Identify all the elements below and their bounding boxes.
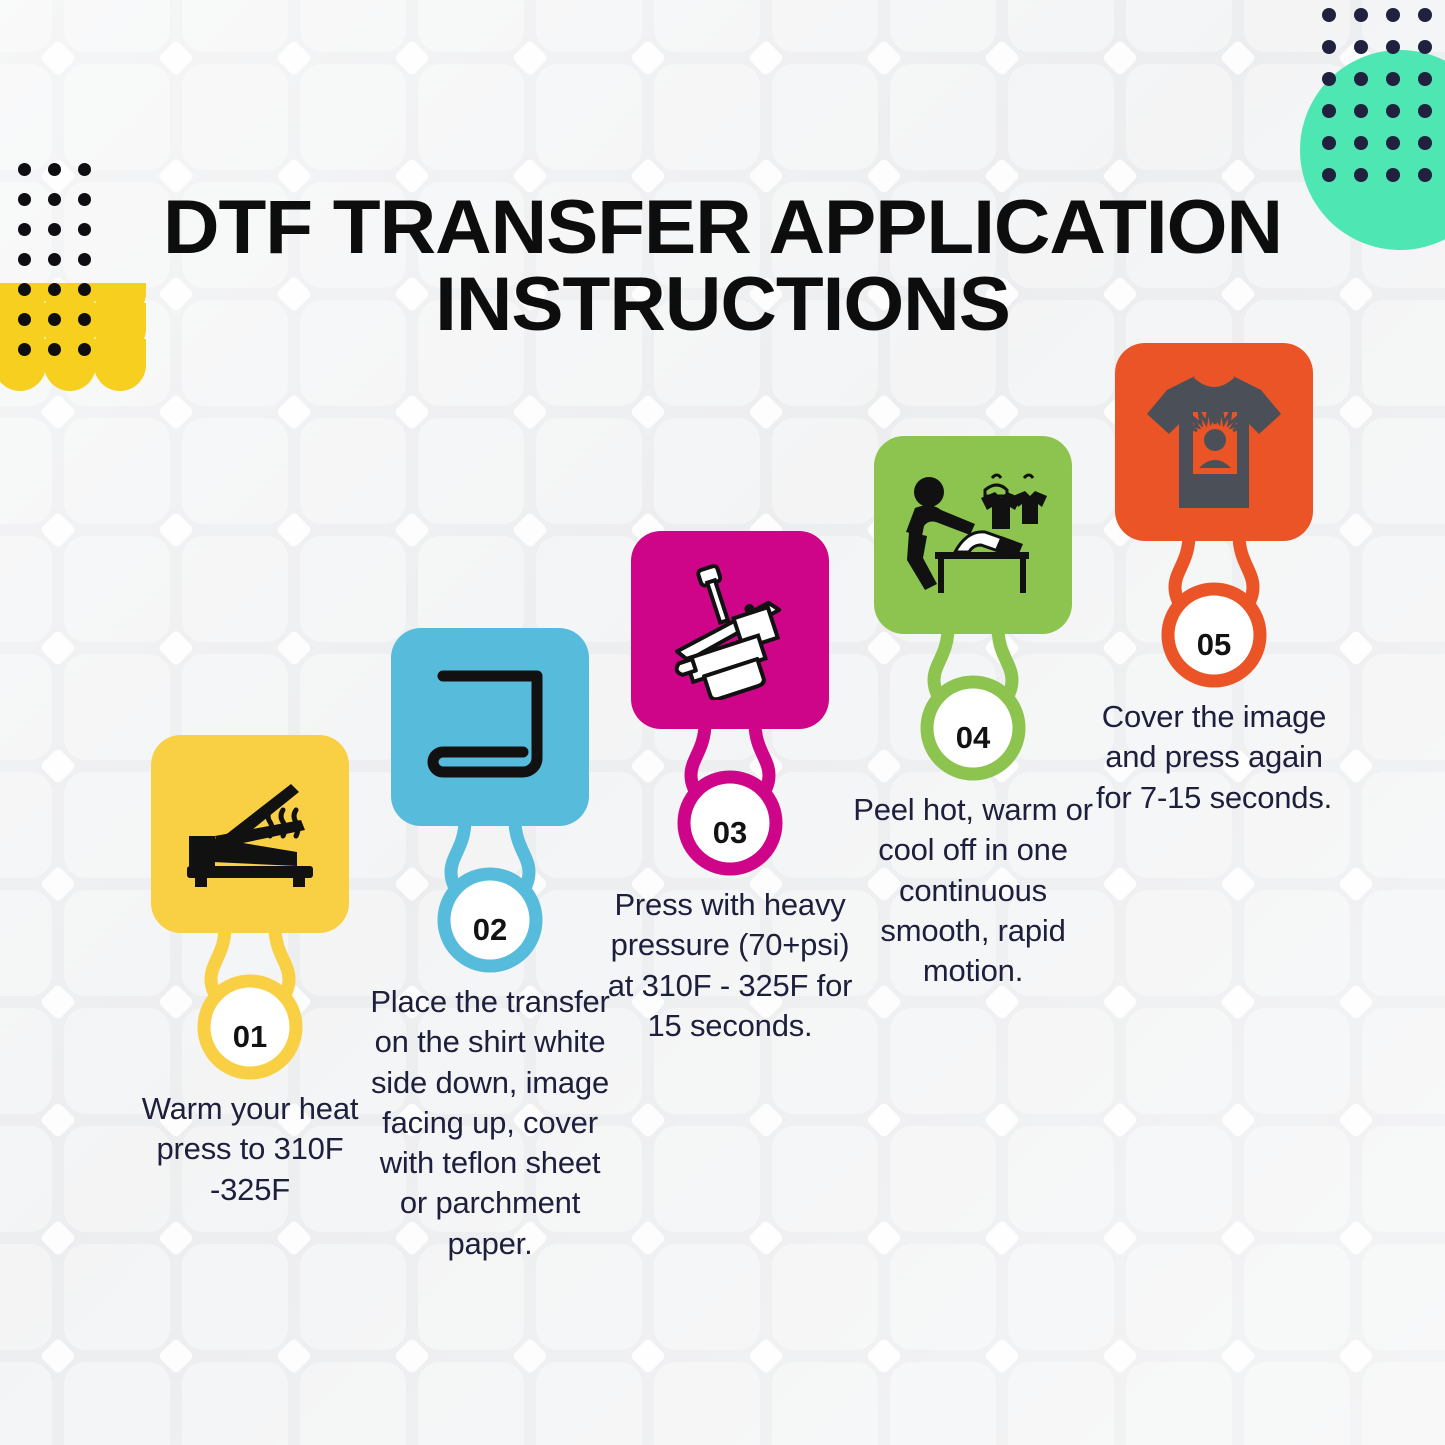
step-caption: Cover the image and press again for 7-15… <box>1091 697 1337 818</box>
heat-press-open-icon <box>175 774 325 894</box>
infographic-canvas: DTF TRANSFER APPLICATION INSTRUCTIONS 01… <box>0 0 1445 1445</box>
connector-shape <box>126 927 374 1087</box>
step-icon-card[interactable] <box>391 628 589 826</box>
step-icon-card[interactable] <box>1115 343 1313 541</box>
step-connector: 02 <box>366 820 614 980</box>
step-connector: 05 <box>1090 535 1338 695</box>
step-icon-card[interactable] <box>874 436 1072 634</box>
step-connector: 03 <box>606 723 854 883</box>
step-caption: Warm your heat press to 310F -325F <box>127 1089 373 1210</box>
heat-press-machine-icon <box>655 560 805 700</box>
printed-tshirt-icon <box>1139 368 1289 516</box>
step-icon-card[interactable] <box>151 735 349 933</box>
step-number: 01 <box>227 1019 273 1055</box>
connector-shape <box>366 820 614 980</box>
step-caption: Place the transfer on the shirt white si… <box>367 982 613 1264</box>
steps-container: 01Warm your heat press to 310F -325F 02P… <box>0 0 1445 1445</box>
connector-shape <box>849 628 1097 788</box>
peel-transfer-person-icon <box>893 470 1053 600</box>
step-number: 04 <box>950 720 996 756</box>
step-connector: 01 <box>126 927 374 1087</box>
step-caption: Press with heavy pressure (70+psi) at 31… <box>607 885 853 1046</box>
step-caption: Peel hot, warm or cool off in one contin… <box>850 790 1096 991</box>
step-04[interactable]: 04Peel hot, warm or cool off in one cont… <box>849 436 1097 991</box>
step-05[interactable]: 05Cover the image and press again for 7-… <box>1090 343 1338 818</box>
connector-shape <box>1090 535 1338 695</box>
step-connector: 04 <box>849 628 1097 788</box>
step-icon-card[interactable] <box>631 531 829 729</box>
step-number: 03 <box>707 815 753 851</box>
connector-shape <box>606 723 854 883</box>
step-02[interactable]: 02Place the transfer on the shirt white … <box>366 628 614 1264</box>
step-number: 02 <box>467 912 513 948</box>
step-number: 05 <box>1191 627 1237 663</box>
transfer-sheet-icon <box>425 662 555 792</box>
step-01[interactable]: 01Warm your heat press to 310F -325F <box>126 735 374 1210</box>
step-03[interactable]: 03Press with heavy pressure (70+psi) at … <box>606 531 854 1046</box>
